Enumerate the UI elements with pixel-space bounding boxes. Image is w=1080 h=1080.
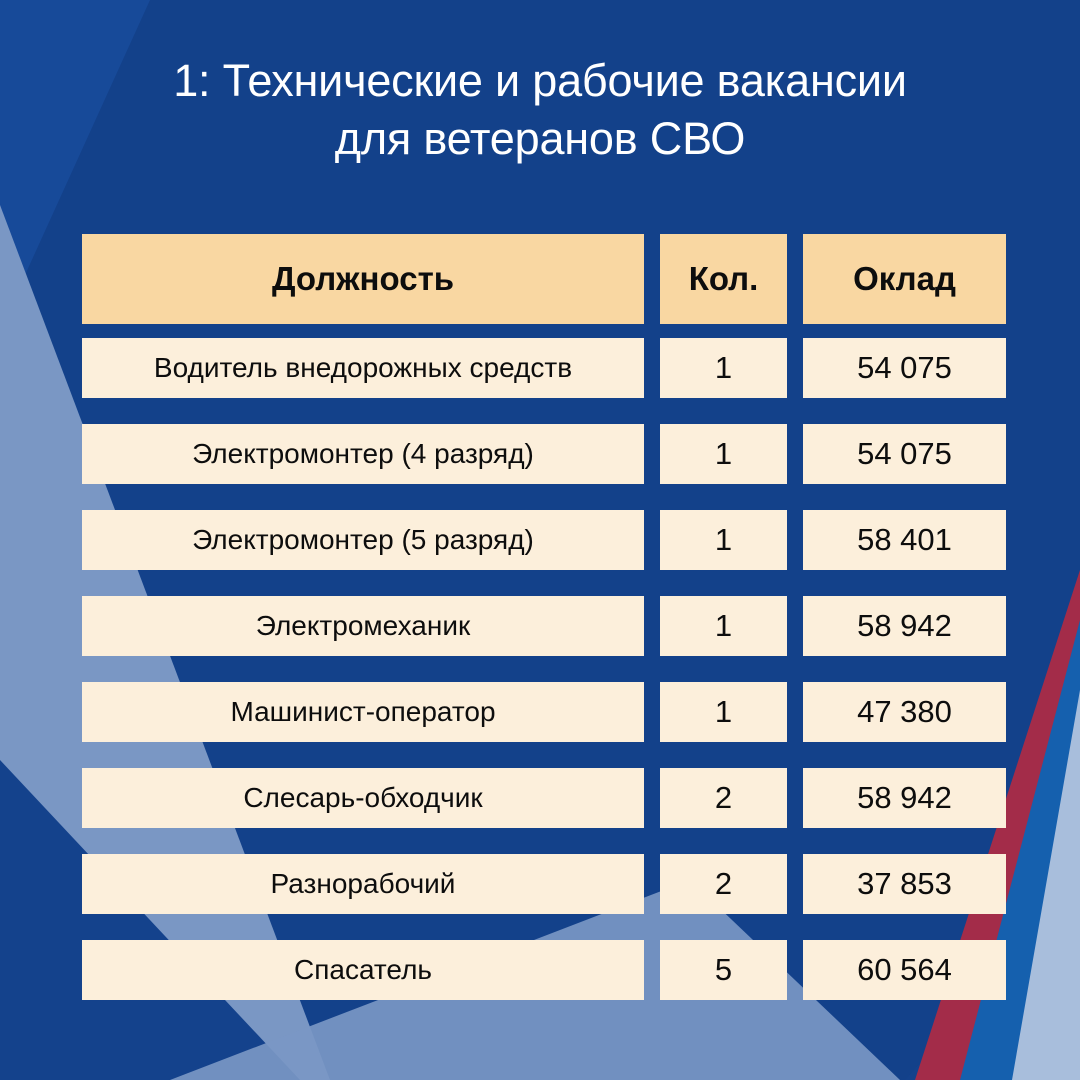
table-row: Электромеханик 1 58 942 xyxy=(82,596,1006,656)
cell-count: 1 xyxy=(660,338,787,398)
column-header-position: Должность xyxy=(82,234,644,324)
cell-count: 1 xyxy=(660,510,787,570)
cell-position: Электромонтер (5 разряд) xyxy=(82,510,644,570)
cell-count: 1 xyxy=(660,596,787,656)
cell-salary: 58 942 xyxy=(803,596,1006,656)
table-header-row: Должность Кол. Оклад xyxy=(82,234,1006,324)
cell-count: 2 xyxy=(660,854,787,914)
cell-salary: 47 380 xyxy=(803,682,1006,742)
cell-salary: 54 075 xyxy=(803,338,1006,398)
title-line-1: 1: Технические и рабочие вакансии xyxy=(60,52,1020,110)
cell-position: Спасатель xyxy=(82,940,644,1000)
vacancies-table: Должность Кол. Оклад Водитель внедорожны… xyxy=(82,234,1006,1000)
cell-salary: 60 564 xyxy=(803,940,1006,1000)
title-line-2: для ветеранов СВО xyxy=(60,110,1020,168)
cell-count: 1 xyxy=(660,424,787,484)
column-header-salary: Оклад xyxy=(803,234,1006,324)
page-title: 1: Технические и рабочие вакансии для ве… xyxy=(0,52,1080,167)
cell-position: Слесарь-обходчик xyxy=(82,768,644,828)
cell-position: Электромонтер (4 разряд) xyxy=(82,424,644,484)
table-row: Водитель внедорожных средств 1 54 075 xyxy=(82,338,1006,398)
cell-salary: 58 942 xyxy=(803,768,1006,828)
table-row: Разнорабочий 2 37 853 xyxy=(82,854,1006,914)
cell-position: Водитель внедорожных средств xyxy=(82,338,644,398)
cell-salary: 37 853 xyxy=(803,854,1006,914)
cell-count: 1 xyxy=(660,682,787,742)
table-row: Машинист-оператор 1 47 380 xyxy=(82,682,1006,742)
column-header-count: Кол. xyxy=(660,234,787,324)
cell-count: 2 xyxy=(660,768,787,828)
cell-salary: 58 401 xyxy=(803,510,1006,570)
slide-content: 1: Технические и рабочие вакансии для ве… xyxy=(0,0,1080,1080)
table-row: Слесарь-обходчик 2 58 942 xyxy=(82,768,1006,828)
table-row: Спасатель 5 60 564 xyxy=(82,940,1006,1000)
table-row: Электромонтер (4 разряд) 1 54 075 xyxy=(82,424,1006,484)
cell-position: Разнорабочий xyxy=(82,854,644,914)
table-row: Электромонтер (5 разряд) 1 58 401 xyxy=(82,510,1006,570)
cell-position: Машинист-оператор xyxy=(82,682,644,742)
cell-count: 5 xyxy=(660,940,787,1000)
cell-salary: 54 075 xyxy=(803,424,1006,484)
cell-position: Электромеханик xyxy=(82,596,644,656)
